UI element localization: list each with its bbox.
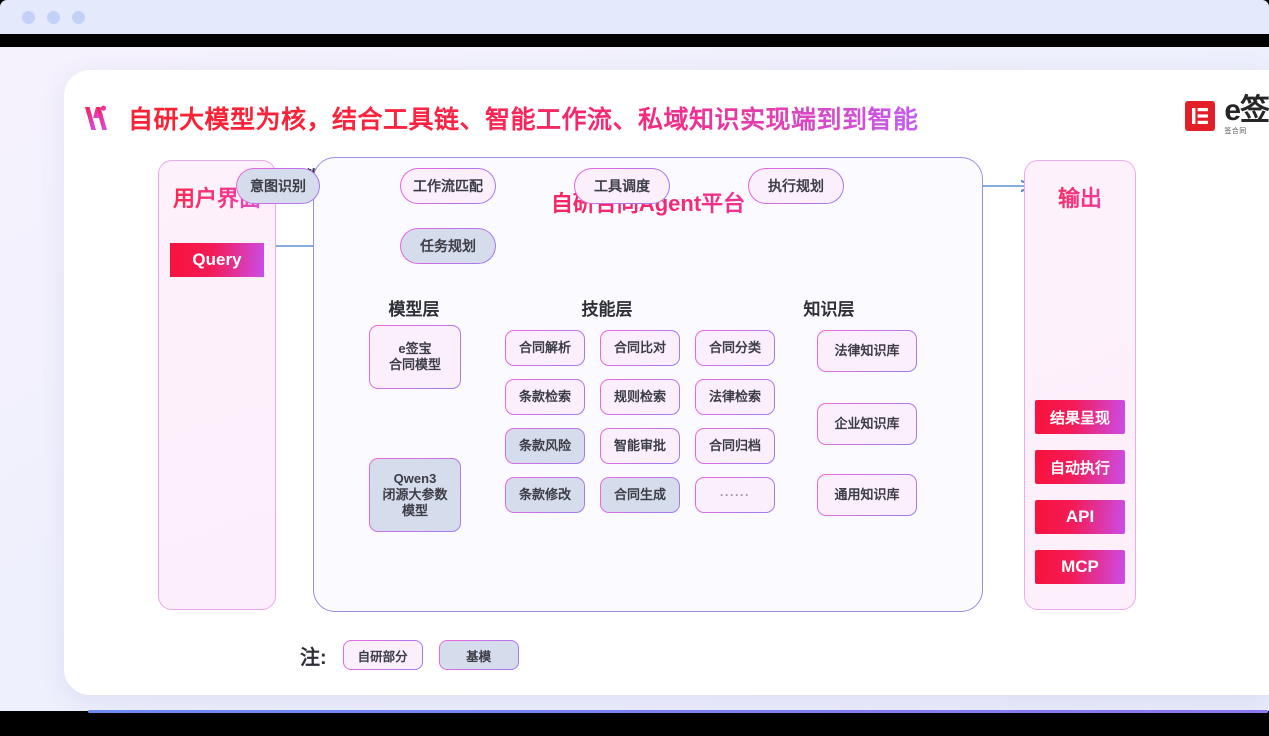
slide-header: 自研大模型为核，结合工具链、智能工作流、私域知识实现端到到智能 [80,90,1269,146]
skill-chip-contract-archive[interactable]: 合同归档 [695,428,775,464]
skill-chip-more[interactable]: ······ [695,477,775,513]
skill-chip-smart-approval[interactable]: 智能审批 [600,428,680,464]
brand-name: e签 [1224,96,1269,126]
skill-chip-clause-risk[interactable]: 条款风险 [505,428,585,464]
legend-chip-base-model: 基模 [439,640,519,670]
output-button-result[interactable]: 结果呈现 [1035,400,1125,434]
flow-node-tool-dispatch[interactable]: 工具调度 [574,168,670,204]
flow-node-workflow-match[interactable]: 工作流匹配 [400,168,496,204]
skill-chip-clause-edit[interactable]: 条款修改 [505,477,585,513]
anthropic-style-logo-icon [80,105,114,132]
layer-title-knowledge: 知识层 [769,295,889,320]
window-minimize-dot[interactable] [47,11,60,24]
skill-chip-clause-retrieval[interactable]: 条款检索 [505,379,585,415]
output-panel-title: 输出 [1025,181,1135,213]
brand-logo: e签 签合同 [1185,96,1269,135]
layer-title-model: 模型层 [354,295,474,320]
esign-square-icon [1185,101,1215,131]
output-panel: 输出 [1024,160,1136,610]
screenshot-root: 自研大模型为核，结合工具链、智能工作流、私域知识实现端到到智能 e签 签合同 [0,0,1269,736]
page-background-bottom [0,711,1269,736]
skill-chip-contract-classify[interactable]: 合同分类 [695,330,775,366]
legend-chip-self-developed: 自研部分 [343,640,423,670]
knowledge-chip-enterprise[interactable]: 企业知识库 [817,403,917,445]
bottom-accent-bar [88,710,1268,713]
window-maximize-dot[interactable] [72,11,85,24]
user-interface-panel: 用户界面 Query [158,160,276,610]
skill-chip-rule-retrieval[interactable]: 规则检索 [600,379,680,415]
legend: 注: 自研部分 基模 [300,640,519,670]
page-title: 自研大模型为核，结合工具链、智能工作流、私域知识实现端到到智能 [128,100,919,136]
flow-node-task-plan[interactable]: 任务规划 [400,228,496,264]
model-chip-qwen3[interactable]: Qwen3闭源大参数模型 [369,458,461,532]
flow-node-exec-plan[interactable]: 执行规划 [748,168,844,204]
brand-text: e签 签合同 [1224,96,1269,135]
output-button-auto-exec[interactable]: 自动执行 [1035,450,1125,484]
skill-chip-contract-generate[interactable]: 合同生成 [600,477,680,513]
flow-node-intent[interactable]: 意图识别 [236,168,320,204]
slide-card: 自研大模型为核，结合工具链、智能工作流、私域知识实现端到到智能 e签 签合同 [64,70,1269,695]
knowledge-chip-general[interactable]: 通用知识库 [817,474,917,516]
brand-subtitle: 签合同 [1224,128,1269,135]
output-button-mcp[interactable]: MCP [1035,550,1125,584]
query-button[interactable]: Query [170,243,264,277]
knowledge-chip-legal[interactable]: 法律知识库 [817,330,917,372]
chrome-strip [0,34,1269,47]
window-titlebar [0,0,1269,34]
legend-label: 注: [300,641,327,670]
skill-chip-contract-parse[interactable]: 合同解析 [505,330,585,366]
model-chip-esign[interactable]: e签宝合同模型 [369,325,461,389]
layer-title-skill: 技能层 [547,295,667,320]
skill-chip-legal-retrieval[interactable]: 法律检索 [695,379,775,415]
window-close-dot[interactable] [22,11,35,24]
skill-chip-contract-compare[interactable]: 合同比对 [600,330,680,366]
output-button-api[interactable]: API [1035,500,1125,534]
